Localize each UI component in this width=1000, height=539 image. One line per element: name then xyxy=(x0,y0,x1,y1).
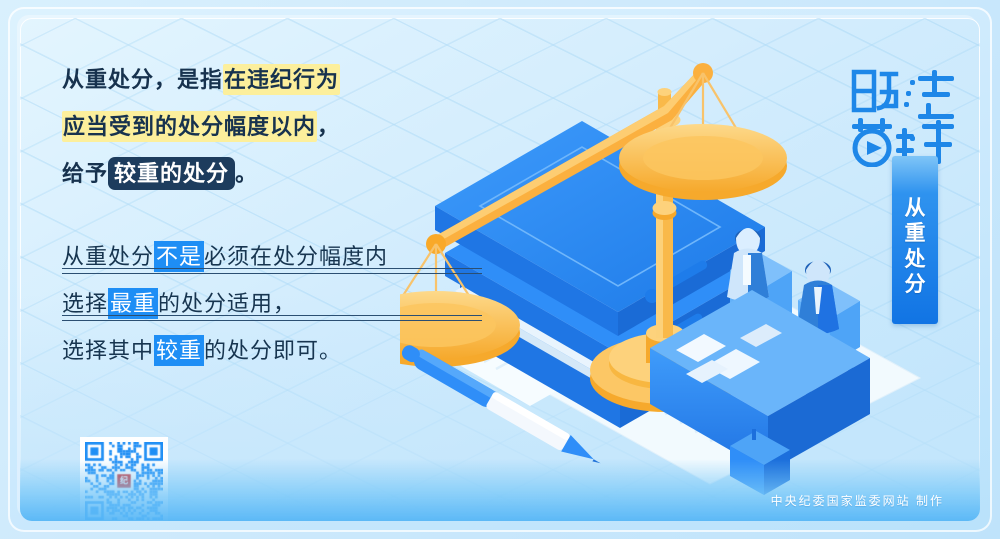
text-line: 给予较重的处分。 xyxy=(62,150,482,197)
text-line: 选择最重的处分适用， xyxy=(62,280,482,327)
text-run-plain: 的处分即可。 xyxy=(204,338,342,363)
paragraph-definition: 从重处分，是指在违纪行为应当受到的处分幅度以内，给予较重的处分。 xyxy=(62,56,482,197)
infographic-canvas: 从重处分，是指在违纪行为应当受到的处分幅度以内，给予较重的处分。 从重处分不是必… xyxy=(0,0,1000,539)
banner-char-1: 重 xyxy=(905,223,926,245)
text-line: 应当受到的处分幅度以内， xyxy=(62,103,482,150)
banner-char-3: 分 xyxy=(905,274,926,296)
text-run-yellow: 在违纪行为 xyxy=(223,64,340,95)
text-content: 从重处分，是指在违纪行为应当受到的处分幅度以内，给予较重的处分。 从重处分不是必… xyxy=(62,56,482,374)
inner-frame: 从重处分，是指在违纪行为应当受到的处分幅度以内，给予较重的处分。 从重处分不是必… xyxy=(20,18,980,521)
topic-banner: 从 重 处 分 xyxy=(892,156,938,324)
text-run-plain: 选择 xyxy=(62,291,108,316)
text-run-plain: 。 xyxy=(235,161,258,186)
text-line: 从重处分，是指在违纪行为 xyxy=(62,56,482,103)
text-run-plain: 是指 xyxy=(177,67,223,92)
text-run-yellow: 应当受到的处分幅度以内 xyxy=(62,111,317,142)
text-run-plain: 从重处分， xyxy=(62,67,177,92)
footer-credit: 中央纪委国家监委网站 制作 xyxy=(771,492,944,509)
banner-char-2: 处 xyxy=(905,249,926,271)
text-run-plain: ， xyxy=(317,114,340,139)
text-line: 从重处分不是必须在处分幅度内 xyxy=(62,233,482,280)
text-run-blue: 最重 xyxy=(108,288,158,319)
play-icon xyxy=(867,141,882,155)
text-line: 选择其中较重的处分即可。 xyxy=(62,327,482,374)
text-run-navy: 较重的处分 xyxy=(108,157,235,190)
paragraph-clarification: 从重处分不是必须在处分幅度内选择最重的处分适用，选择其中较重的处分即可。 xyxy=(62,233,482,374)
text-run-blue: 较重 xyxy=(154,335,204,366)
text-run-plain: 的处分适用， xyxy=(158,291,296,316)
text-run-plain: 从重处分 xyxy=(62,244,154,269)
text-run-blue: 不是 xyxy=(154,241,204,272)
text-run-plain: 必须在处分幅度内 xyxy=(204,244,388,269)
bottom-gradient-band xyxy=(20,459,980,521)
text-run-plain: 选择其中 xyxy=(62,338,154,363)
program-logo xyxy=(844,62,956,167)
text-run-plain: 给予 xyxy=(62,161,108,186)
banner-char-0: 从 xyxy=(905,198,926,220)
